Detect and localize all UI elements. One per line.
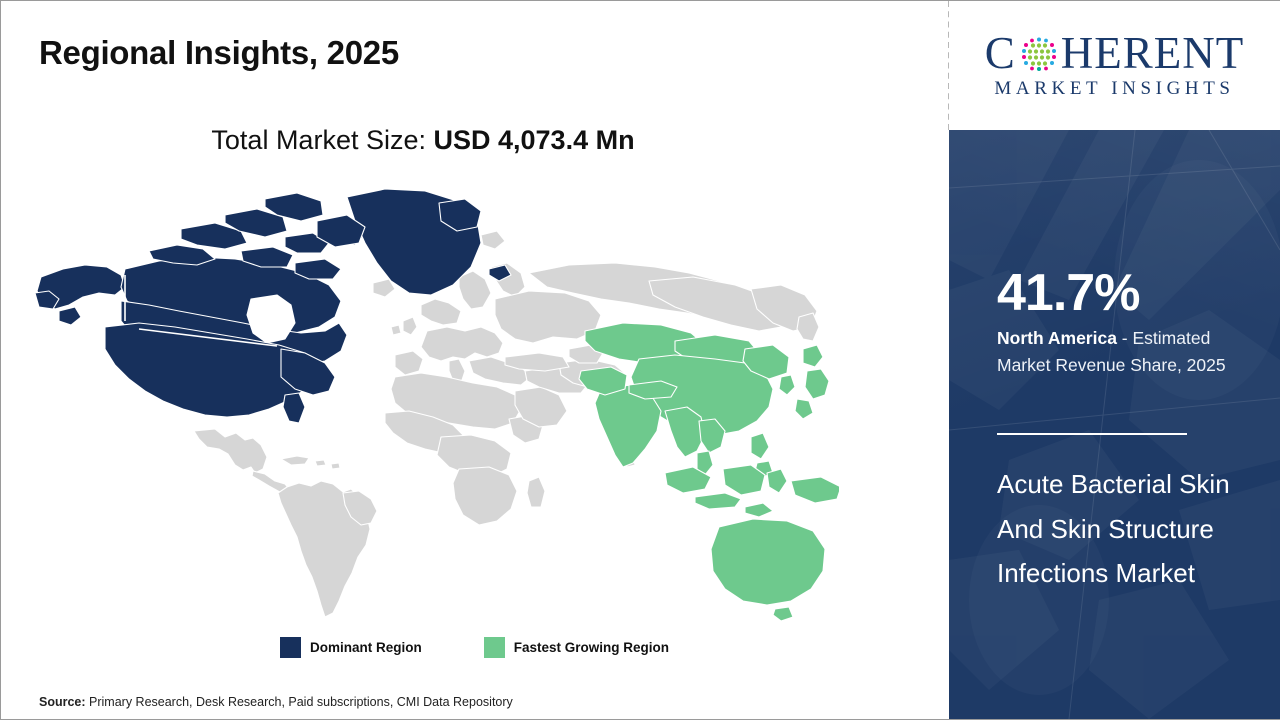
dotted-globe-icon bbox=[1019, 34, 1059, 74]
source-label: Source: bbox=[39, 695, 86, 709]
source-text: Primary Research, Desk Research, Paid su… bbox=[86, 695, 513, 709]
page-title: Regional Insights, 2025 bbox=[39, 34, 399, 72]
logo-tagline: MARKET INSIGHTS bbox=[994, 78, 1234, 100]
logo-letter-c: C bbox=[985, 31, 1016, 76]
map-legend: Dominant Region Fastest Growing Region bbox=[1, 637, 948, 658]
dominant-region-swatch bbox=[280, 637, 301, 658]
stat-percentage: 41.7% bbox=[997, 267, 1139, 319]
stat-panel-content: 41.7% North America - Estimated Market R… bbox=[949, 130, 1280, 719]
source-note: Source: Primary Research, Desk Research,… bbox=[39, 695, 513, 709]
logo-wordmark: C bbox=[985, 31, 1245, 76]
infographic-page: Regional Insights, 2025 Total Market Siz… bbox=[0, 0, 1280, 720]
stat-description: North America - Estimated Market Revenue… bbox=[997, 325, 1262, 378]
stat-panel: 41.7% North America - Estimated Market R… bbox=[949, 130, 1280, 719]
total-market-size-label: Total Market Size: bbox=[211, 125, 426, 155]
total-market-size-value: USD 4,073.4 Mn bbox=[434, 125, 635, 155]
total-market-size: Total Market Size: USD 4,073.4 Mn bbox=[1, 125, 845, 156]
world-map bbox=[29, 181, 839, 621]
market-title: Acute Bacterial Skin And Skin Structure … bbox=[997, 462, 1247, 596]
right-sidebar: C bbox=[949, 1, 1280, 719]
stat-region-name: North America bbox=[997, 328, 1117, 348]
legend-item-dominant-region: Dominant Region bbox=[280, 637, 422, 658]
left-content-column: Regional Insights, 2025 Total Market Siz… bbox=[1, 1, 948, 719]
legend-label-dominant: Dominant Region bbox=[310, 640, 422, 655]
legend-item-fastest-growing-region: Fastest Growing Region bbox=[484, 637, 669, 658]
panel-divider-rule bbox=[997, 433, 1187, 435]
logo-letters-herent: HERENT bbox=[1061, 31, 1244, 76]
fastest-growing-region-swatch bbox=[484, 637, 505, 658]
brand-logo: C bbox=[949, 1, 1280, 130]
legend-label-fastest-growing: Fastest Growing Region bbox=[514, 640, 669, 655]
